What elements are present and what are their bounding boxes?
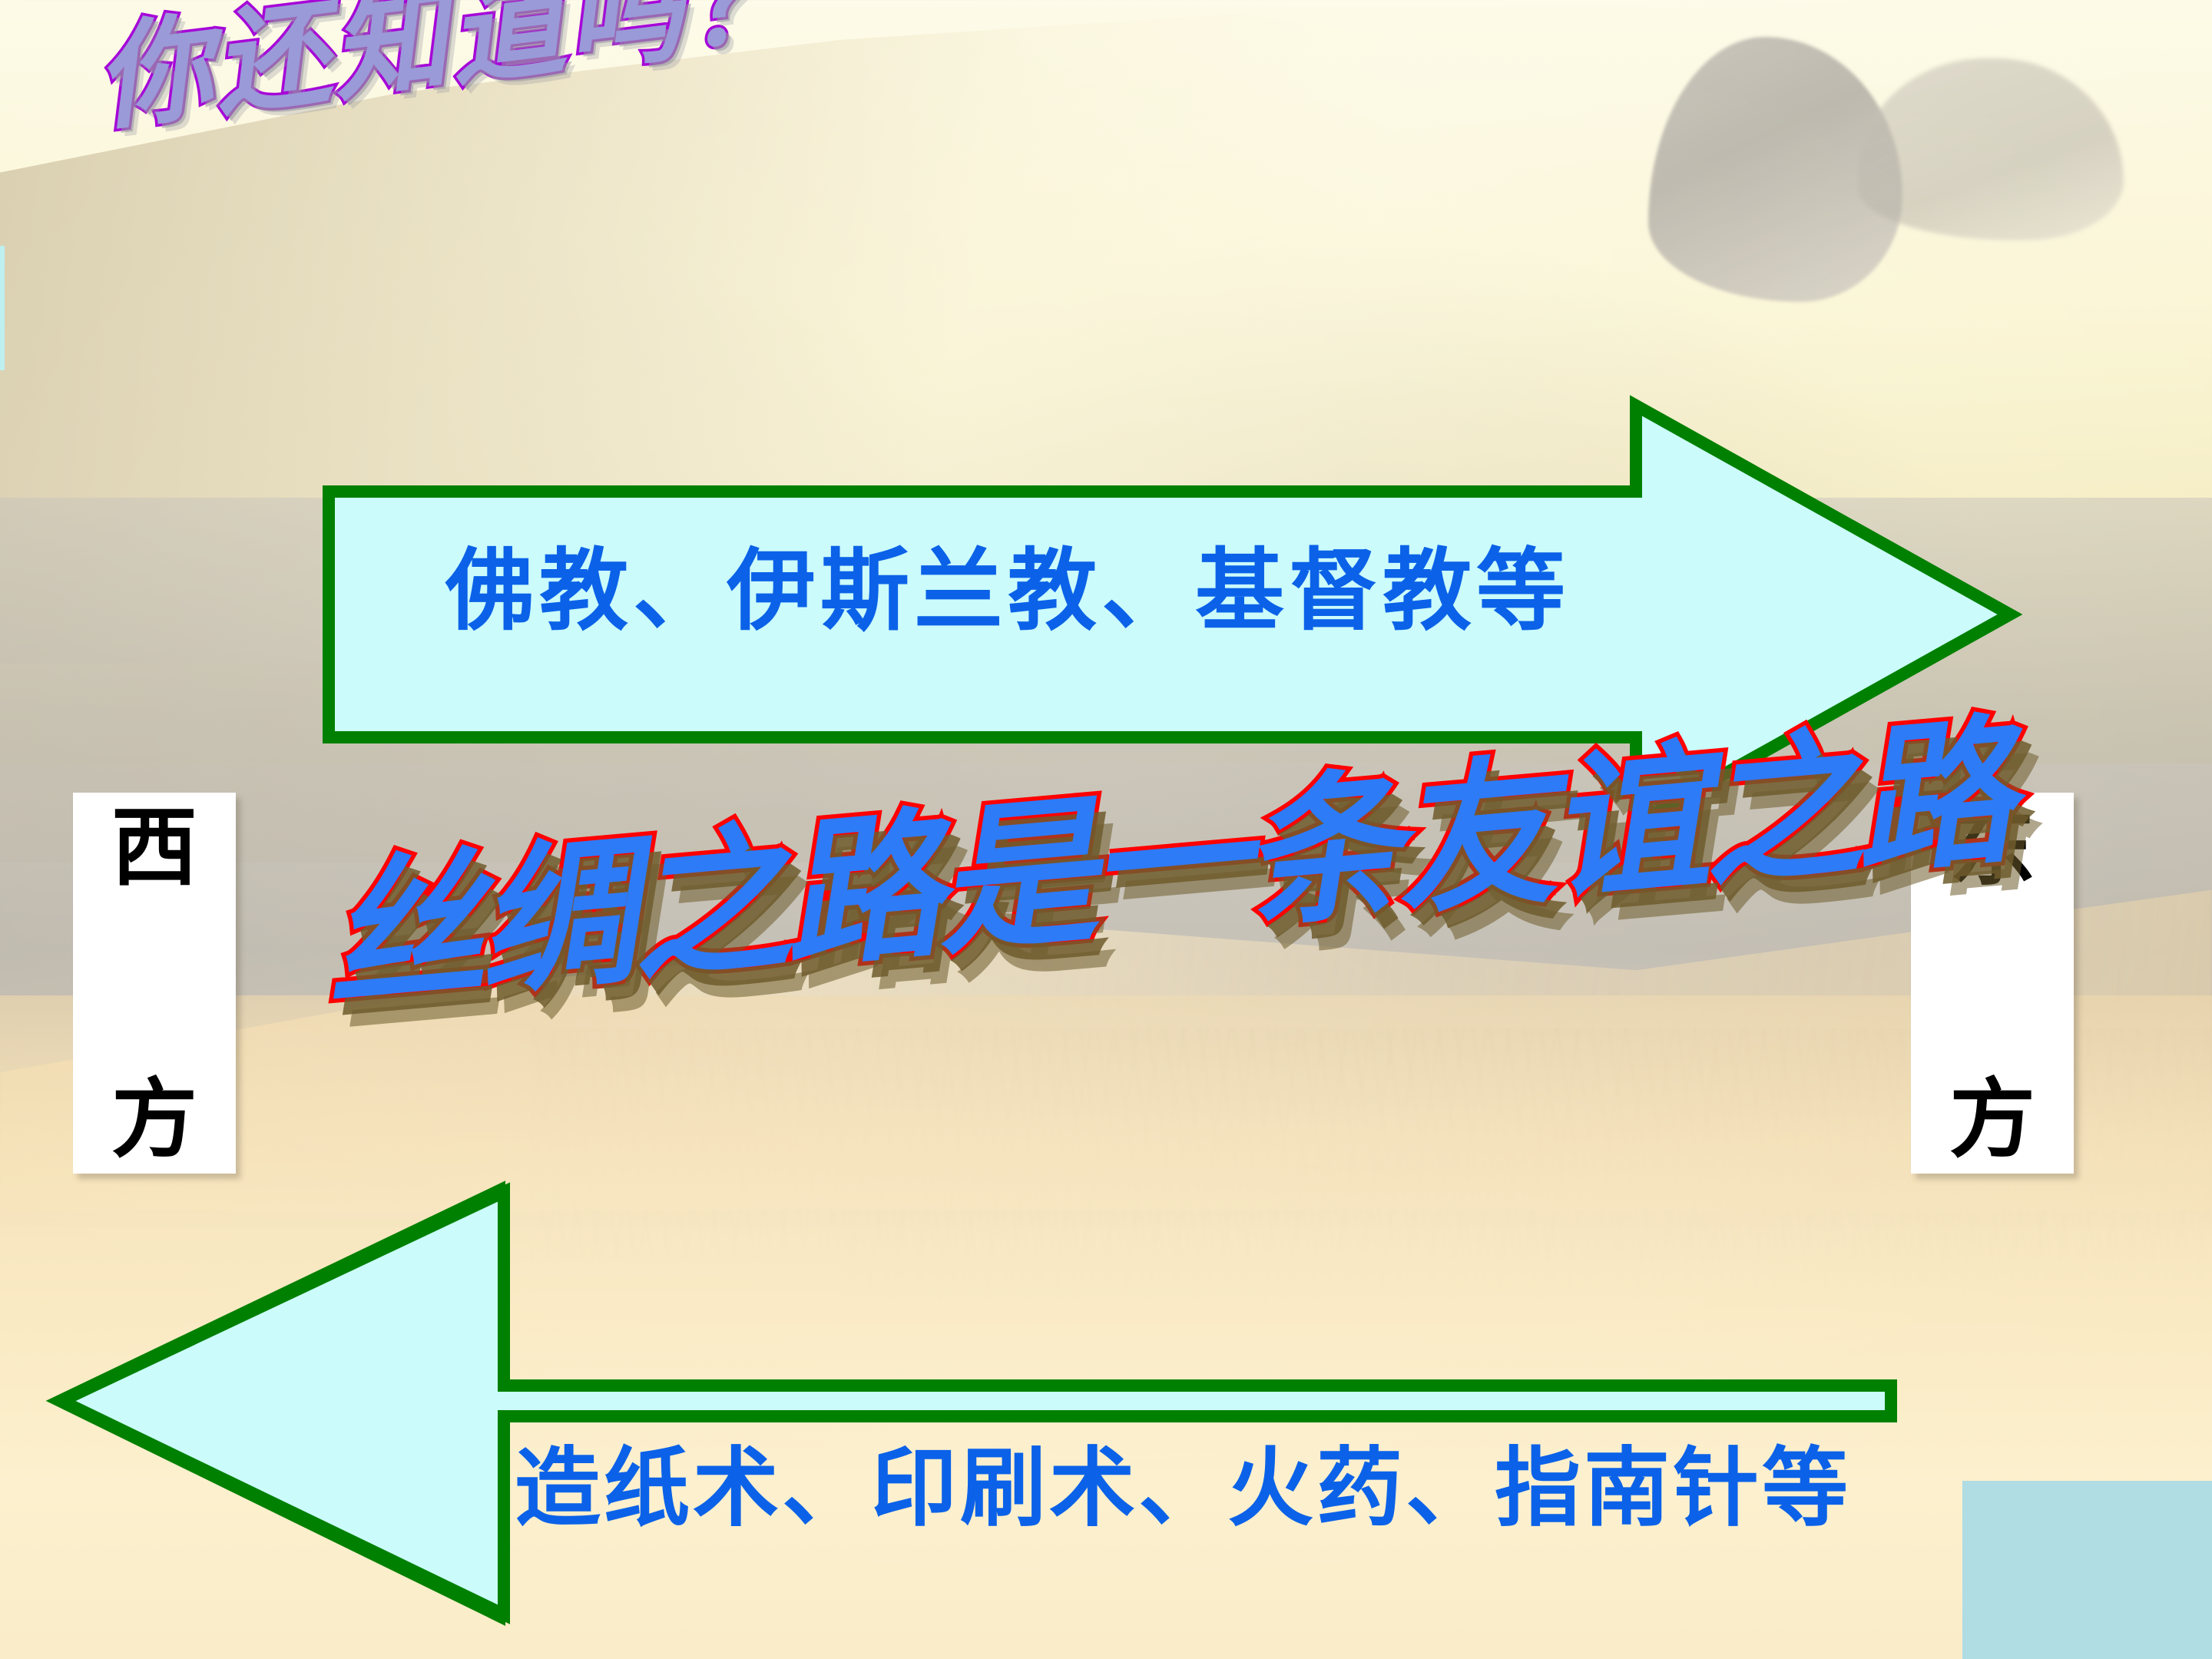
- east-label-char-2: 方: [1949, 1077, 2035, 1163]
- left-edge-sliver: [0, 246, 5, 370]
- westbound-arrow: 造纸术、印刷术、火药、指南针等: [54, 1184, 1897, 1622]
- slide-canvas: 你还知道吗？ 佛教、伊斯兰教、基督教等 造纸术、印刷术、火药、指南针等 西 方 …: [0, 0, 2212, 1659]
- corner-decoration-panel: [1962, 1481, 2212, 1659]
- east-label-char-1: 东: [1949, 805, 2035, 891]
- west-label-box: 西 方: [73, 793, 236, 1174]
- westbound-arrow-label: 造纸术、印刷术、火药、指南针等: [515, 1445, 1851, 1532]
- east-label-box: 东 方: [1911, 793, 2074, 1174]
- westbound-arrow-shape: [54, 1184, 1897, 1622]
- west-label-char-2: 方: [111, 1077, 197, 1163]
- west-label-char-1: 西: [111, 805, 197, 891]
- eastbound-arrow-label: 佛教、伊斯兰教、基督教等: [445, 547, 1570, 636]
- eastbound-arrow: 佛教、伊斯兰教、基督教等: [323, 399, 2016, 829]
